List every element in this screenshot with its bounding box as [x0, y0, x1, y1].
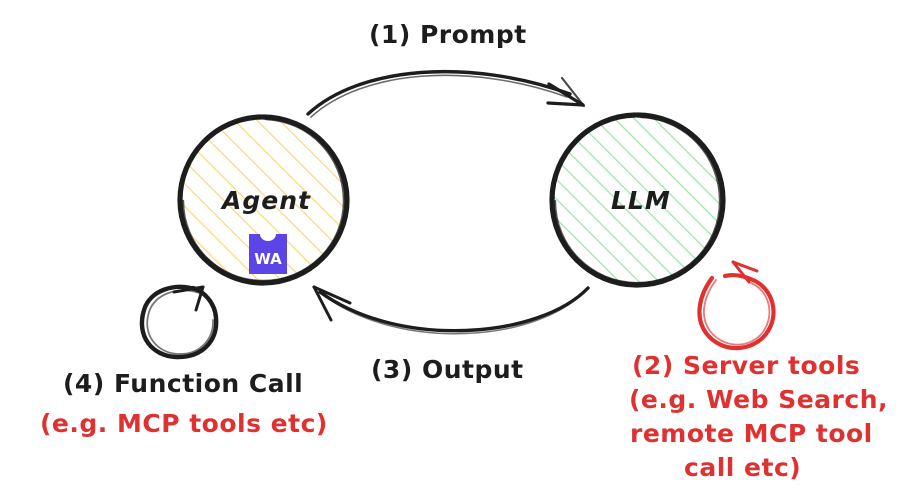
- agent-wa-badge[interactable]: WA: [249, 234, 287, 274]
- edge-note-server-tools-line2: remote MCP tool: [630, 419, 873, 450]
- edge-label-prompt: (1) Prompt: [369, 20, 527, 51]
- edge-note-server-tools-line1: (e.g. Web Search,: [629, 385, 888, 416]
- edge-label-function-call: (4) Function Call: [63, 369, 303, 400]
- edge-output-arrow[interactable]: [314, 287, 588, 334]
- edge-function-call-loop[interactable]: [142, 287, 216, 357]
- edge-server-tools-loop[interactable]: [699, 262, 773, 348]
- edge-prompt-arrow[interactable]: [308, 72, 584, 117]
- edge-label-output: (3) Output: [371, 355, 524, 386]
- llm-node-label: LLM: [611, 186, 671, 215]
- diagram-canvas: Agent LLM WA (1) Prompt (3) Output (4) F…: [0, 0, 900, 503]
- edge-note-server-tools-line3: call etc): [684, 453, 801, 484]
- edge-label-server-tools: (2) Server tools: [632, 351, 860, 382]
- edge-note-function-call: (e.g. MCP tools etc): [40, 409, 328, 440]
- agent-node-label: Agent: [222, 186, 311, 215]
- badge-label: WA: [254, 252, 281, 274]
- badge-notch-icon: [260, 227, 276, 241]
